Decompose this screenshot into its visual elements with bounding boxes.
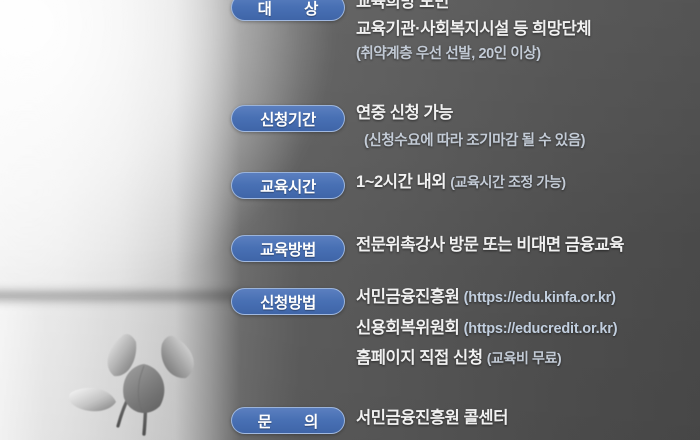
- education-time-value: 1~2시간 내외: [356, 173, 446, 191]
- row-application-period-lines: 연중 신청 가능 (신청수요에 따라 조기마감 될 수 있음): [356, 105, 700, 148]
- badge-education-method[interactable]: 교육방법: [231, 235, 345, 262]
- target-line-2: 교육기관·사회복지시설 등 희망단체: [356, 21, 700, 38]
- badge-education-time[interactable]: 교육시간: [231, 172, 345, 199]
- poster-canvas: 대 상 교육희망 도민 교육기관·사회복지시설 등 희망단체 (취약계층 우선 …: [0, 0, 700, 440]
- kinfa-url[interactable]: (https://edu.kinfa.or.kr): [464, 290, 616, 306]
- target-line-1: 교육희망 도민: [356, 0, 700, 11]
- kinfa-name: 서민금융진흥원: [356, 288, 459, 306]
- application-method-line-2: 신용회복위원회 (https://educredit.or.kr): [356, 320, 700, 337]
- education-method-line-1: 전문위촉강사 방문 또는 비대면 금융교육: [356, 237, 700, 254]
- row-inquiry-lines: 서민금융진흥원 콜센터: [356, 410, 700, 427]
- educredit-url[interactable]: (https://educredit.or.kr): [464, 321, 618, 337]
- target-line-3: (취약계층 우선 선발, 20인 이상): [356, 47, 700, 62]
- educredit-name: 신용회복위원회: [356, 319, 459, 337]
- inquiry-line-1: 서민금융진흥원 콜센터: [356, 410, 700, 427]
- badge-application-period[interactable]: 신청기간: [231, 105, 345, 132]
- education-time-note: (교육시간 조정 가능): [450, 174, 565, 190]
- application-method-line-1: 서민금융진흥원 (https://edu.kinfa.or.kr): [356, 289, 700, 306]
- badge-inquiry[interactable]: 문 의: [231, 407, 345, 434]
- application-period-line-1: 연중 신청 가능: [356, 105, 700, 122]
- row-education-time-lines: 1~2시간 내외 (교육시간 조정 가능): [356, 174, 700, 191]
- education-time-line-1: 1~2시간 내외 (교육시간 조정 가능): [356, 174, 700, 191]
- badge-application-method[interactable]: 신청방법: [231, 288, 345, 315]
- info-rows: 대 상 교육희망 도민 교육기관·사회복지시설 등 희망단체 (취약계층 우선 …: [0, 0, 700, 440]
- free-tuition-note: (교육비 무료): [487, 350, 561, 366]
- homepage-apply-text: 홈페이지 직접 신청: [356, 349, 483, 367]
- application-period-line-2: (신청수요에 따라 조기마감 될 수 있음): [356, 134, 700, 149]
- row-application-method-lines: 서민금융진흥원 (https://edu.kinfa.or.kr) 신용회복위원…: [356, 289, 700, 367]
- row-education-method-lines: 전문위촉강사 방문 또는 비대면 금융교육: [356, 237, 700, 254]
- application-method-line-3: 홈페이지 직접 신청 (교육비 무료): [356, 350, 700, 367]
- badge-target[interactable]: 대 상: [231, 0, 345, 21]
- row-target-lines: 교육희망 도민 교육기관·사회복지시설 등 희망단체 (취약계층 우선 선발, …: [356, 0, 700, 62]
